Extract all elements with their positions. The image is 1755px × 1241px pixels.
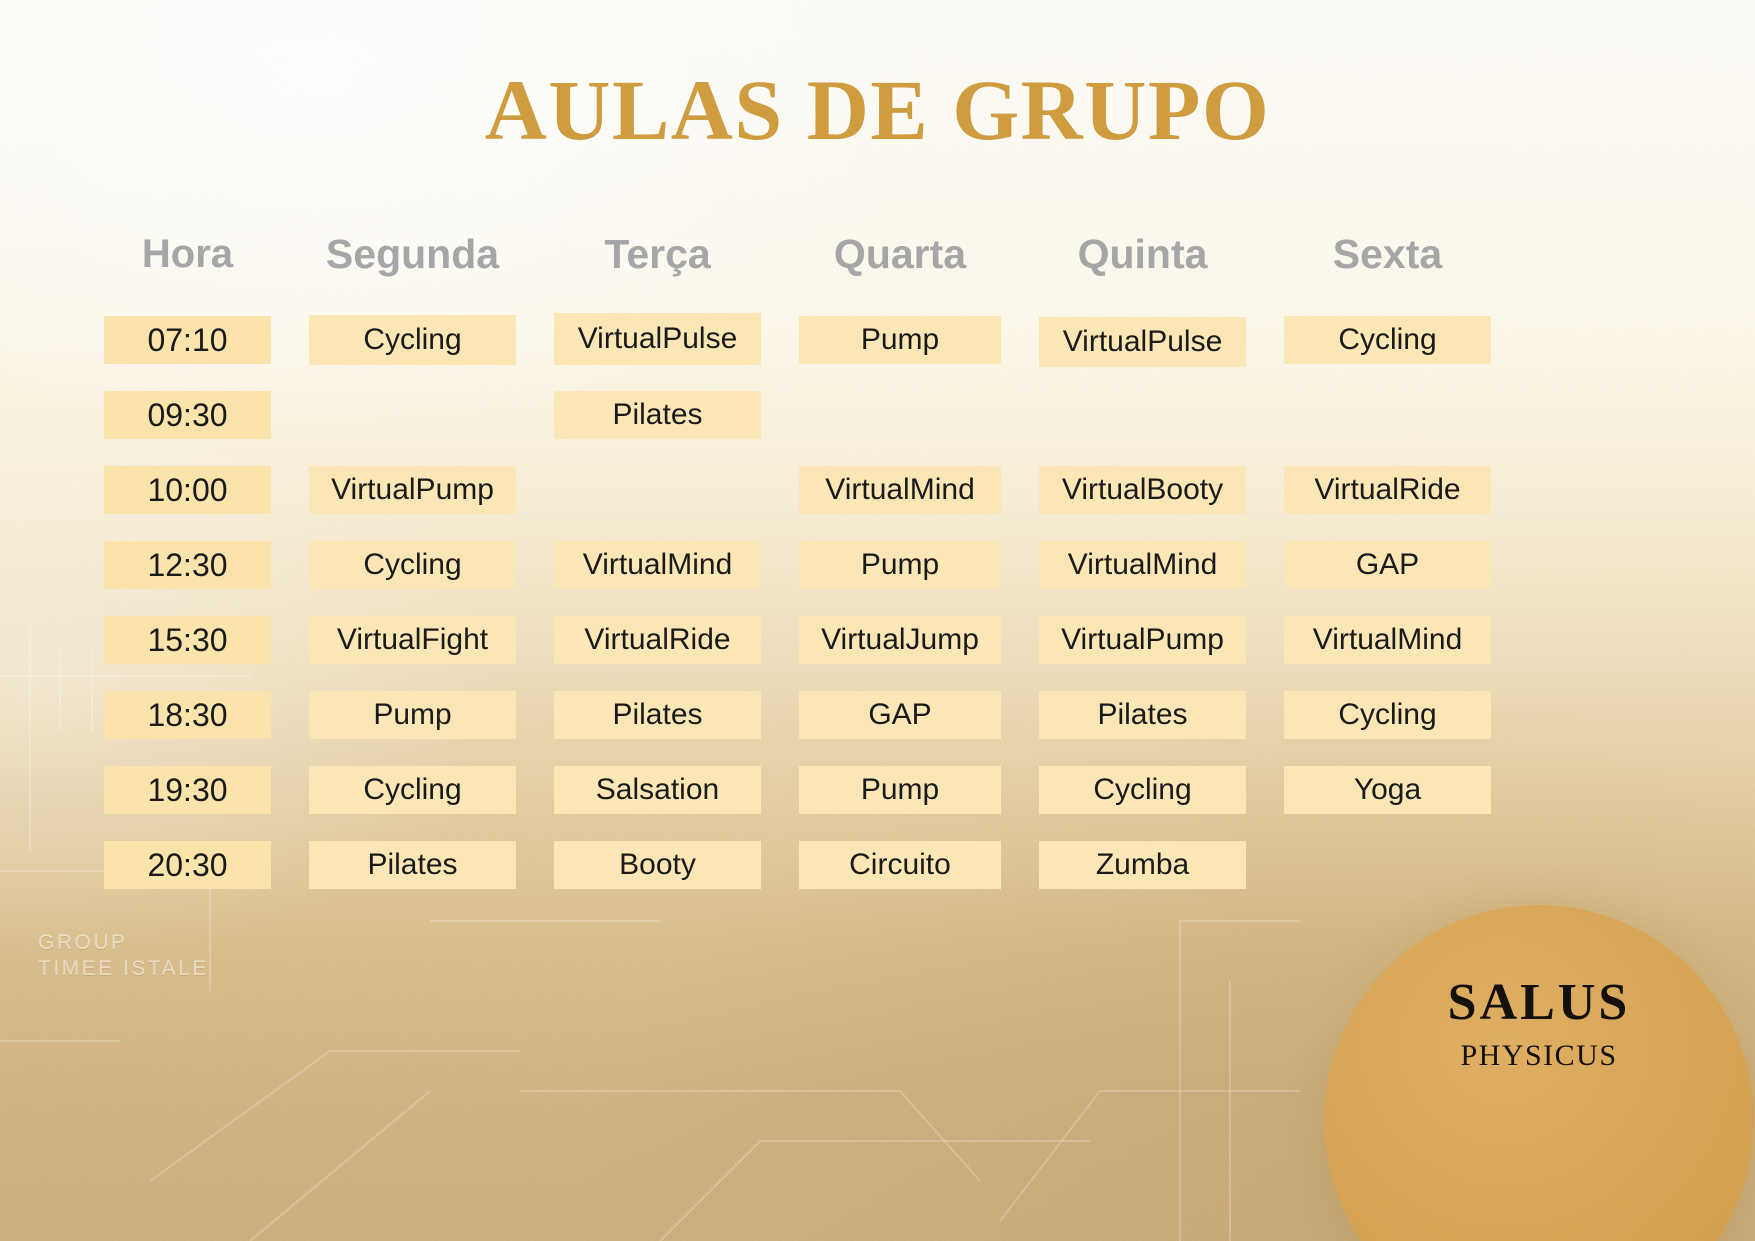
column-header-sexta: Sexta — [1284, 234, 1491, 275]
class-cell[interactable]: VirtualFight — [309, 616, 516, 664]
class-cell-empty — [1039, 391, 1246, 439]
class-cell[interactable]: Pilates — [309, 841, 516, 889]
time-cell: 07:10 — [104, 316, 271, 364]
class-cell[interactable]: Pump — [309, 691, 516, 739]
column-header-terca: Terça — [554, 234, 761, 275]
class-cell[interactable]: Pump — [799, 766, 1001, 814]
logo-name: SALUS — [1324, 977, 1754, 1029]
class-cell[interactable]: Circuito — [799, 841, 1001, 889]
class-cell[interactable]: Salsation — [554, 766, 761, 814]
class-cell[interactable]: Cycling — [309, 541, 516, 589]
class-cell[interactable]: Cycling — [309, 315, 516, 365]
class-cell[interactable]: Pump — [799, 541, 1001, 589]
class-cell[interactable]: Cycling — [1284, 691, 1491, 739]
time-cell: 12:30 — [104, 541, 271, 589]
class-cell[interactable]: VirtualJump — [799, 616, 1001, 664]
salus-physicus-logo: SALUS PHYSICUS — [1324, 905, 1754, 1241]
time-cell: 19:30 — [104, 766, 271, 814]
class-cell[interactable]: VirtualPulse — [554, 313, 761, 365]
class-cell[interactable]: VirtualRide — [1284, 466, 1491, 514]
class-cell[interactable]: VirtualPulse — [1039, 317, 1246, 367]
class-cell[interactable]: Pilates — [554, 691, 761, 739]
table-header-row: Hora Segunda Terça Quarta Quinta Sexta — [104, 206, 1479, 302]
poster-canvas: AULAS DE GRUPO Hora Segunda Terça Quarta… — [0, 0, 1755, 1241]
class-cell-empty — [554, 466, 761, 514]
class-cell[interactable]: Cycling — [1284, 316, 1491, 364]
class-cell[interactable]: VirtualPump — [309, 466, 516, 514]
class-schedule-table: Hora Segunda Terça Quarta Quinta Sexta 0… — [104, 206, 1479, 902]
time-cell: 15:30 — [104, 616, 271, 664]
column-header-quinta: Quinta — [1039, 234, 1246, 275]
time-cell: 10:00 — [104, 466, 271, 514]
class-cell[interactable]: Pilates — [554, 391, 761, 439]
class-cell[interactable]: Zumba — [1039, 841, 1246, 889]
column-header-quarta: Quarta — [799, 234, 1001, 275]
class-cell[interactable]: GAP — [799, 691, 1001, 739]
class-cell-empty — [799, 391, 1001, 439]
class-cell[interactable]: Pump — [799, 316, 1001, 364]
table-row: 19:30 Cycling Salsation Pump Cycling Yog… — [104, 752, 1479, 827]
logo-subtitle: PHYSICUS — [1324, 1041, 1754, 1071]
time-cell: 09:30 — [104, 391, 271, 439]
class-cell[interactable]: VirtualMind — [554, 541, 761, 589]
table-row: 09:30 Pilates — [104, 377, 1479, 452]
class-cell[interactable]: Cycling — [309, 766, 516, 814]
table-row: 07:10 Cycling VirtualPulse Pump VirtualP… — [104, 302, 1479, 377]
table-row: 12:30 Cycling VirtualMind Pump VirtualMi… — [104, 527, 1479, 602]
class-cell-empty — [1284, 841, 1491, 889]
class-cell[interactable]: VirtualRide — [554, 616, 761, 664]
logo-text-block: SALUS PHYSICUS — [1324, 977, 1754, 1071]
class-cell[interactable]: GAP — [1284, 541, 1491, 589]
background-watermark-text: GROUP TIMEE ISTALE — [38, 930, 209, 983]
column-header-segunda: Segunda — [309, 234, 516, 275]
class-cell[interactable]: VirtualMind — [1284, 616, 1491, 664]
table-row: 10:00 VirtualPump VirtualMind VirtualBoo… — [104, 452, 1479, 527]
class-cell-empty — [309, 391, 516, 439]
class-cell[interactable]: VirtualPump — [1039, 616, 1246, 664]
class-cell[interactable]: Pilates — [1039, 691, 1246, 739]
column-header-hora: Hora — [104, 234, 271, 274]
class-cell[interactable]: VirtualMind — [799, 466, 1001, 514]
time-cell: 20:30 — [104, 841, 271, 889]
class-cell-empty — [1284, 391, 1491, 439]
class-cell[interactable]: Cycling — [1039, 766, 1246, 814]
table-row: 18:30 Pump Pilates GAP Pilates Cycling — [104, 677, 1479, 752]
class-cell[interactable]: Booty — [554, 841, 761, 889]
class-cell[interactable]: Yoga — [1284, 766, 1491, 814]
class-cell[interactable]: VirtualMind — [1039, 541, 1246, 589]
table-row: 20:30 Pilates Booty Circuito Zumba — [104, 827, 1479, 902]
table-row: 15:30 VirtualFight VirtualRide VirtualJu… — [104, 602, 1479, 677]
time-cell: 18:30 — [104, 691, 271, 739]
page-title: AULAS DE GRUPO — [0, 60, 1755, 160]
class-cell[interactable]: VirtualBooty — [1039, 466, 1246, 514]
